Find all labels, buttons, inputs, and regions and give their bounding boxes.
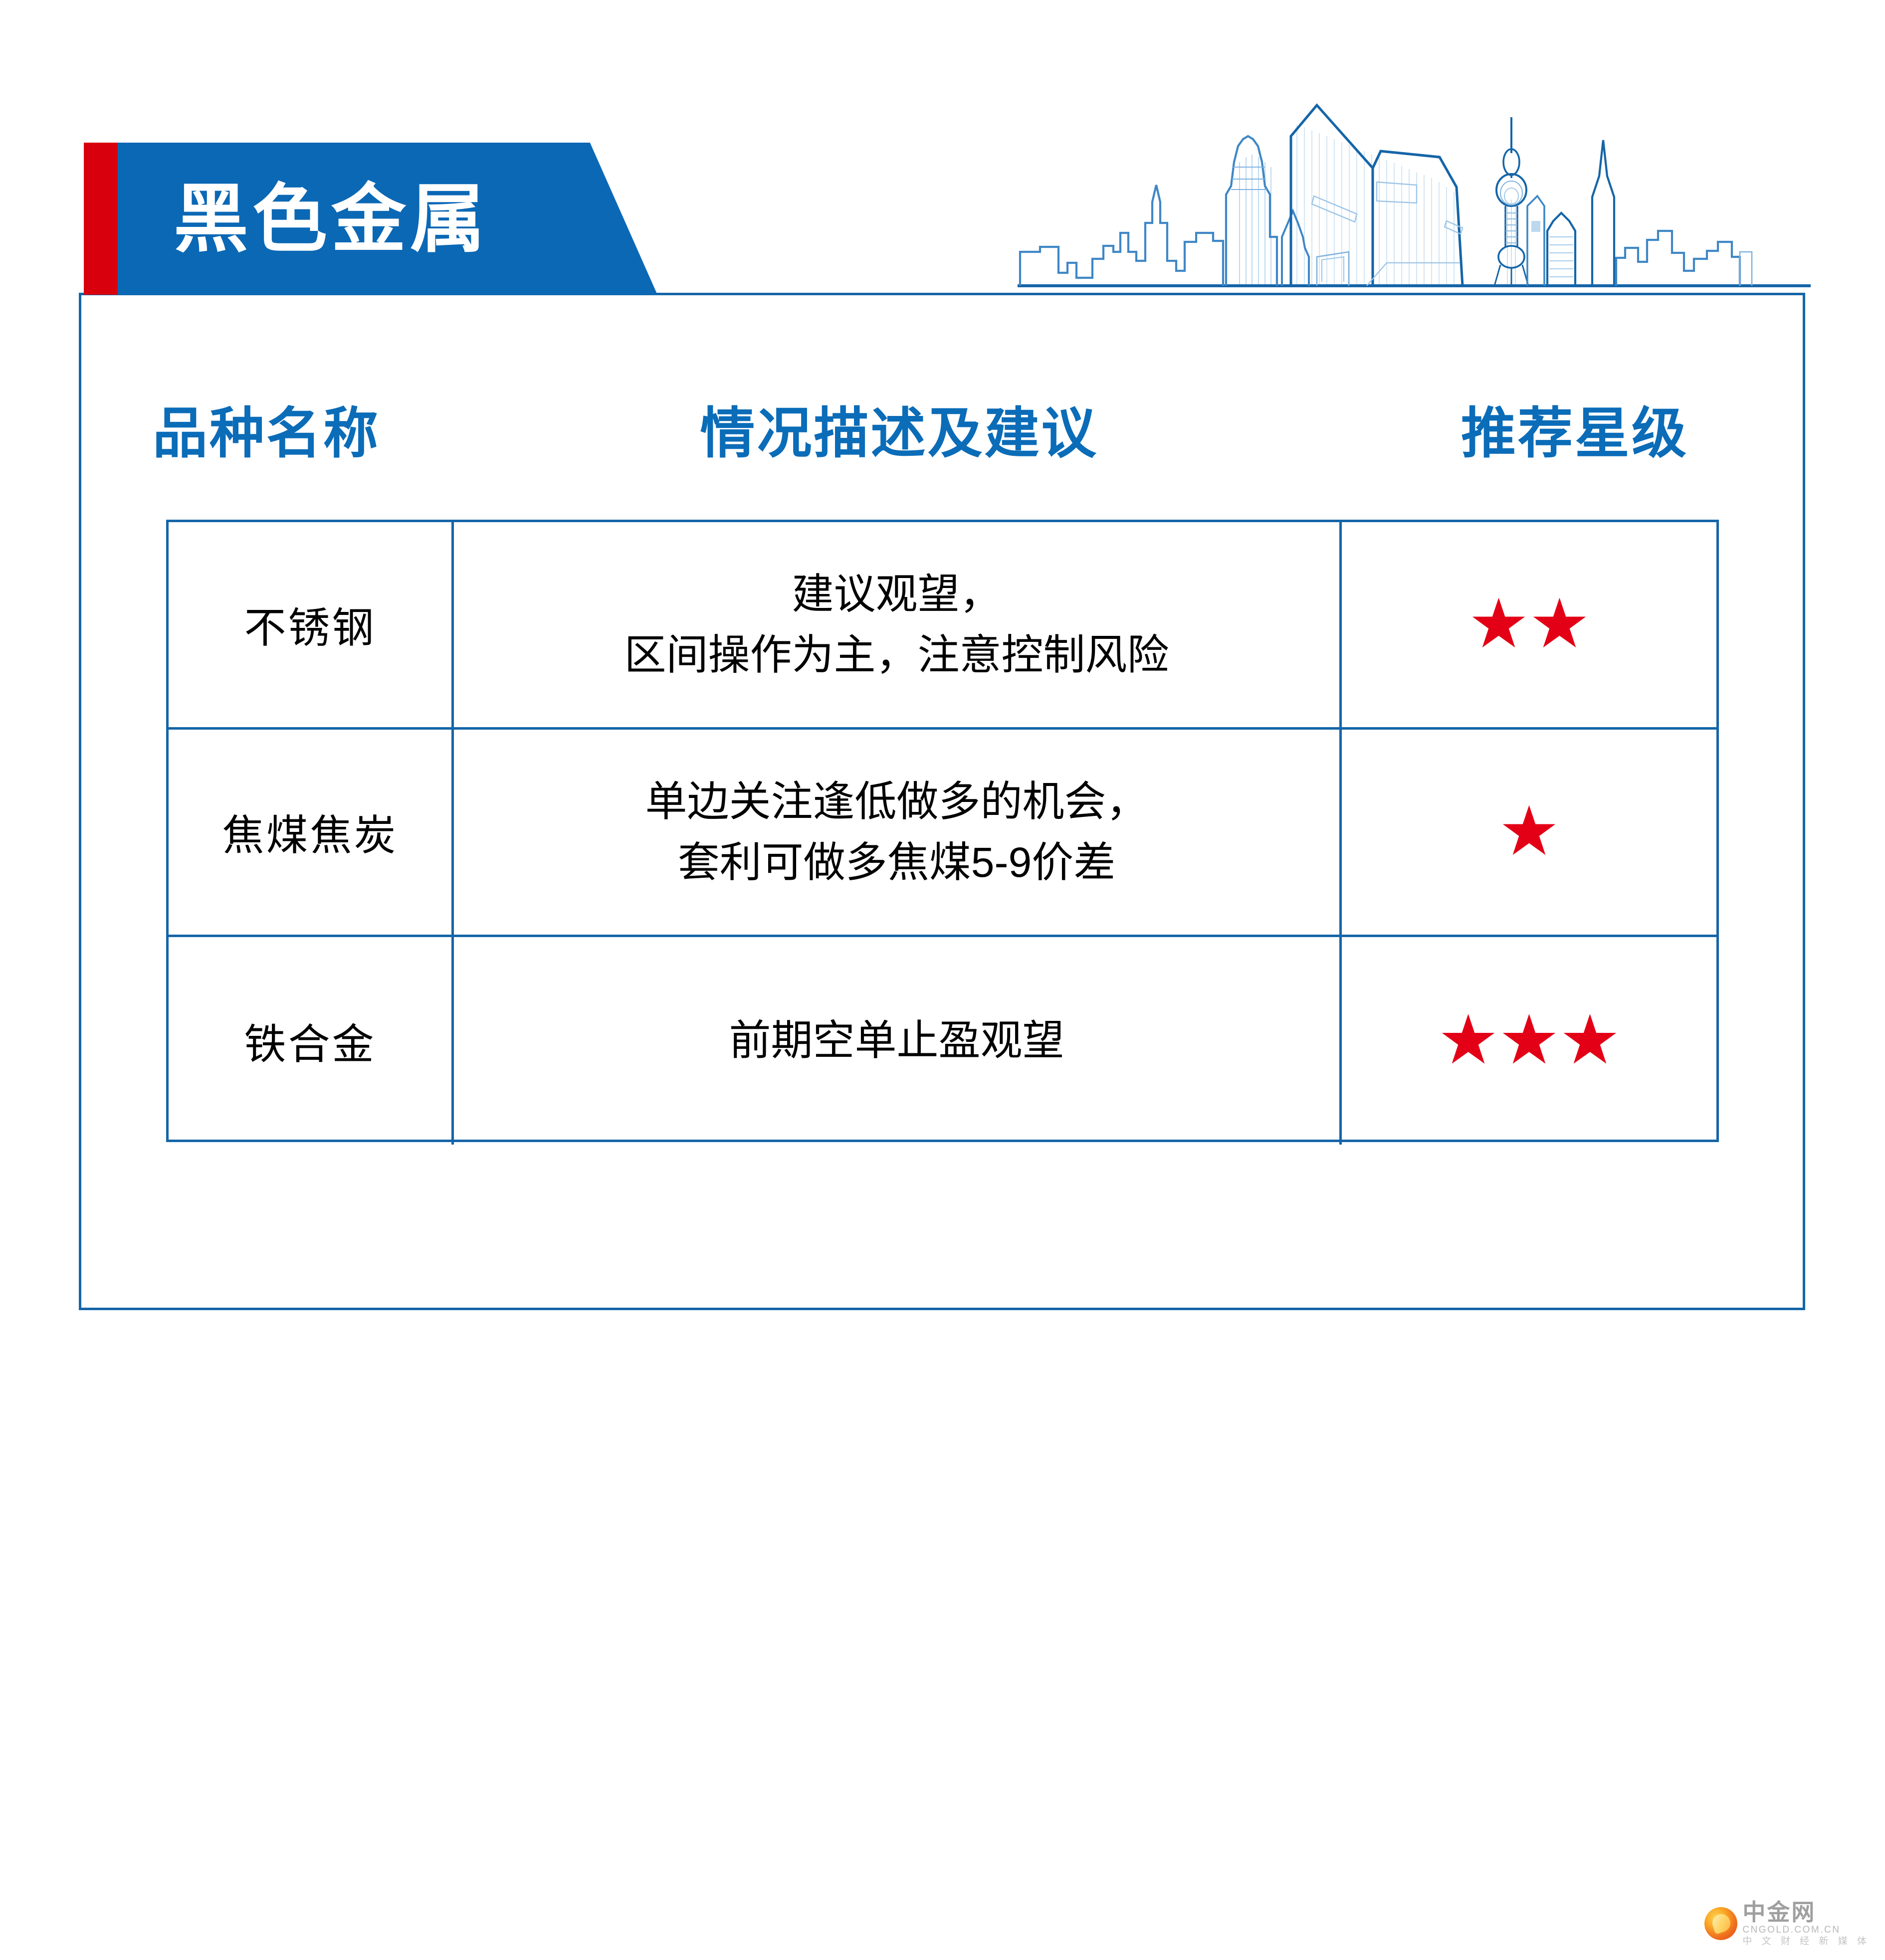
star-icon bbox=[1442, 1014, 1495, 1068]
column-header-name: 品种名称 bbox=[79, 406, 454, 461]
watermark-logo: 中金网 CNGOLD.COM.CN 中 文 财 经 新 媒 体 bbox=[1704, 1901, 1870, 1946]
table-row: 铁合金 前期空单止盈观望 bbox=[169, 937, 1716, 1145]
watermark-brand: 中金网 bbox=[1742, 1901, 1870, 1924]
cell-variety-name: 不锈钢 bbox=[169, 522, 454, 727]
watermark-tagline: 中 文 财 经 新 媒 体 bbox=[1742, 1937, 1870, 1946]
table-column-headers: 品种名称 情况描述及建议 推荐星级 bbox=[79, 369, 1805, 499]
description-line: 单边关注逢低做多的机会， bbox=[645, 772, 1148, 832]
description-line: 前期空单止盈观望 bbox=[729, 1010, 1064, 1071]
page-title: 黑色金属 bbox=[84, 143, 583, 295]
cell-star-rating bbox=[1342, 730, 1716, 935]
description-line: 套利可做多焦煤5-9价差 bbox=[645, 832, 1148, 893]
cell-variety-name: 铁合金 bbox=[169, 937, 454, 1145]
cell-star-rating bbox=[1342, 937, 1716, 1145]
poster-root: 黑色金属 品种名称 情况描述及建议 推荐星级 不锈钢 建议观望， 区间操作为主，… bbox=[0, 0, 1885, 1960]
cell-description: 建议观望， 区间操作为主，注意控制风险 bbox=[454, 522, 1342, 727]
column-header-stars: 推荐星级 bbox=[1344, 406, 1805, 461]
cngold-swirl-icon bbox=[1704, 1907, 1737, 1940]
table-row: 不锈钢 建议观望， 区间操作为主，注意控制风险 bbox=[169, 522, 1716, 730]
table-row: 焦煤焦炭 单边关注逢低做多的机会， 套利可做多焦煤5-9价差 bbox=[169, 730, 1716, 937]
star-icon bbox=[1533, 598, 1587, 652]
description-line: 区间操作为主，注意控制风险 bbox=[624, 625, 1169, 686]
watermark-url: CNGOLD.COM.CN bbox=[1742, 1925, 1870, 1935]
recommendation-table: 不锈钢 建议观望， 区间操作为主，注意控制风险 焦煤焦炭 单边关注逢低做多的机会… bbox=[166, 520, 1719, 1142]
cell-star-rating bbox=[1342, 522, 1716, 727]
star-icon bbox=[1563, 1014, 1617, 1068]
star-icon bbox=[1502, 805, 1556, 859]
star-icon bbox=[1502, 1014, 1556, 1068]
cell-description: 单边关注逢低做多的机会， 套利可做多焦煤5-9价差 bbox=[454, 730, 1342, 935]
column-header-description: 情况描述及建议 bbox=[454, 406, 1344, 461]
description-line: 建议观望， bbox=[624, 564, 1169, 625]
cell-description: 前期空单止盈观望 bbox=[454, 937, 1342, 1145]
city-skyline-icon bbox=[1018, 87, 1811, 297]
star-icon bbox=[1472, 598, 1526, 652]
cell-variety-name: 焦煤焦炭 bbox=[169, 730, 454, 935]
watermark-text: 中金网 CNGOLD.COM.CN 中 文 财 经 新 媒 体 bbox=[1742, 1901, 1870, 1946]
